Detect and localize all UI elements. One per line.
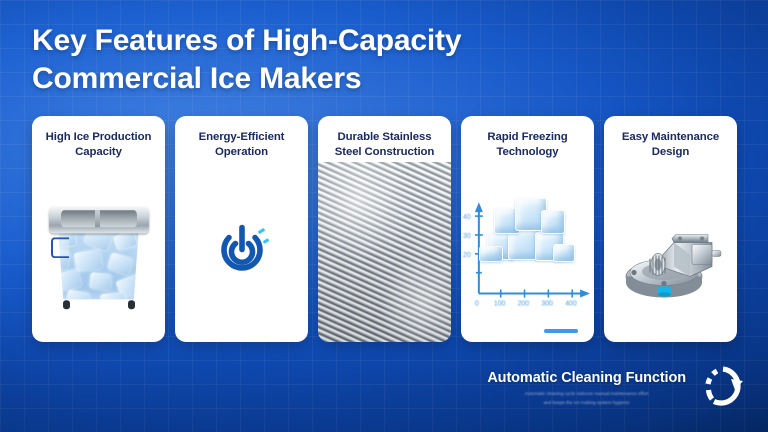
steel-sheen-overlay: [318, 162, 451, 342]
feature-card-energy-efficient[interactable]: Energy-Efficient Operation: [175, 116, 308, 342]
card-media: [32, 160, 165, 342]
feature-card-stainless-steel[interactable]: Durable Stainless Steel Construction: [318, 116, 451, 342]
xtick-label: 0: [475, 301, 479, 308]
slide-root: Key Features of High-Capacity Commercial…: [0, 0, 768, 432]
card-media: 40 30 20 0 100 200 300 400: [461, 160, 594, 342]
bin-caster-right: [128, 300, 135, 309]
feature-card-rapid-freezing[interactable]: Rapid Freezing Technology: [461, 116, 594, 342]
bin-handle: [51, 237, 69, 258]
ytick-label: 20: [463, 252, 471, 259]
xtick-label: 100: [494, 301, 506, 308]
ice-cube: [541, 210, 565, 234]
feature-card-row: High Ice Production Capacity: [32, 116, 737, 342]
ice-cube: [553, 244, 575, 262]
footer-subtitle-line-1: Automatic cleaning cycle reduces manual …: [487, 390, 686, 398]
chart-legend-bar: [544, 329, 578, 333]
footer-title: Automatic Cleaning Function: [487, 370, 686, 386]
ytick-label: 30: [463, 233, 471, 240]
card-title: Durable Stainless Steel Construction: [318, 116, 451, 160]
card-media: [604, 160, 737, 342]
bin-caster-left: [63, 300, 70, 309]
card-media: [318, 162, 451, 342]
ice-cubes-chart: 40 30 20 0 100 200 300 400: [461, 160, 594, 342]
card-title: High Ice Production Capacity: [32, 116, 165, 160]
footer-text-block: Automatic Cleaning Function Automatic cl…: [487, 370, 686, 406]
card-title: Energy-Efficient Operation: [175, 116, 308, 160]
feature-card-high-ice-production[interactable]: High Ice Production Capacity: [32, 116, 165, 342]
xtick-label: 200: [518, 301, 530, 308]
ice-cube: [479, 246, 503, 262]
card-title: Easy Maintenance Design: [604, 116, 737, 160]
footer-subtitle-line-2: and keeps the ice making system hygienic: [487, 399, 686, 407]
xtick-label: 400: [565, 301, 577, 308]
footer-badge: Automatic Cleaning Function Automatic cl…: [487, 363, 746, 414]
ice-storage-bin-icon: [47, 197, 151, 309]
refresh-cycle-icon: [700, 363, 746, 414]
card-media: [175, 160, 308, 342]
feature-card-easy-maintenance[interactable]: Easy Maintenance Design: [604, 116, 737, 342]
bin-opening: [61, 210, 137, 227]
ytick-label: 40: [463, 214, 471, 221]
page-title-line-1: Key Features of High-Capacity: [32, 24, 461, 57]
xtick-label: 300: [541, 301, 553, 308]
page-title-line-2: Commercial Ice Makers: [32, 60, 592, 98]
machine-component-icon: [616, 206, 726, 303]
page-title: Key Features of High-Capacity Commercial…: [32, 22, 592, 99]
power-button-icon: [211, 218, 273, 285]
card-title: Rapid Freezing Technology: [461, 116, 594, 160]
